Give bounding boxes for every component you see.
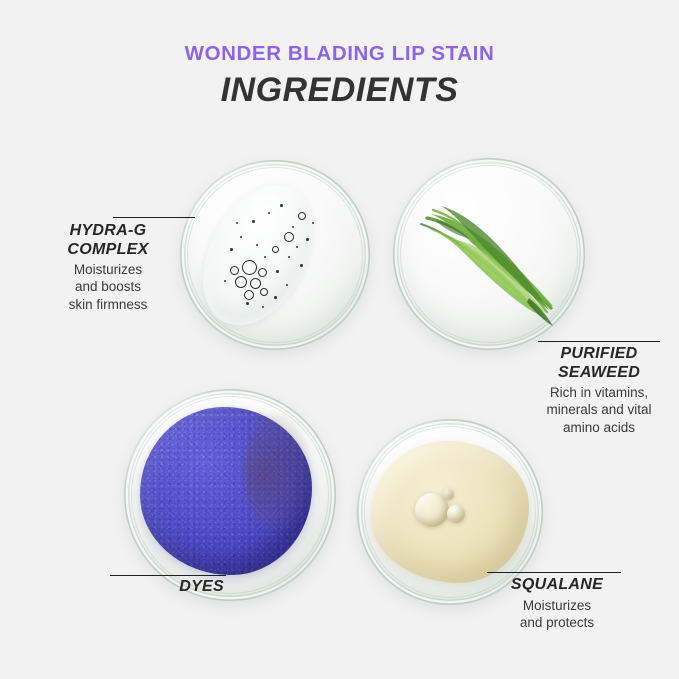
speck <box>306 238 309 241</box>
brand-title: WONDER BLADING LIP STAIN <box>0 42 679 66</box>
speck <box>300 264 303 267</box>
main-title: INGREDIENTS <box>0 71 679 109</box>
bubble-icon <box>258 268 267 277</box>
leader-line-hydra-g <box>113 217 195 218</box>
speck <box>292 226 294 228</box>
speck <box>236 222 238 224</box>
leader-line-dyes <box>110 575 226 576</box>
bubble-icon <box>250 278 261 289</box>
gel-blob <box>181 166 335 343</box>
callout-squalane: SQUALANE Moisturizes and protects <box>487 576 627 631</box>
callout-dyes: DYES <box>84 578 224 599</box>
bubble-icon <box>272 246 279 253</box>
speck <box>252 220 255 223</box>
speck <box>312 222 314 224</box>
callout-seaweed: PURIFIED SEAWEED Rich in vitamins, miner… <box>524 345 674 436</box>
callout-description: Moisturizes and protects <box>487 597 627 632</box>
speck <box>230 248 233 251</box>
speck <box>288 256 290 258</box>
leader-line-seaweed <box>538 341 660 342</box>
callout-title: SQUALANE <box>487 576 627 595</box>
callout-description: Rich in vitamins, minerals and vital ami… <box>524 384 674 436</box>
petri-dish-seaweed <box>393 158 585 350</box>
bubble-icon <box>260 288 268 296</box>
callout-description: Moisturizes and boosts skin firmness <box>34 261 182 313</box>
speck <box>280 204 283 207</box>
speck <box>296 246 298 248</box>
speck <box>262 306 264 308</box>
speck <box>264 256 266 258</box>
page-title: WONDER BLADING LIP STAIN INGREDIENTS <box>0 42 679 109</box>
callout-title: PURIFIED SEAWEED <box>524 345 674 382</box>
speck <box>274 296 277 299</box>
seaweed-illustration <box>411 180 571 330</box>
speck <box>240 236 242 238</box>
bubble-icon <box>242 260 257 275</box>
leader-line-squalane <box>487 572 621 573</box>
dish-content-seaweed <box>393 158 585 350</box>
dish-content-gel <box>180 160 370 350</box>
petri-dish-dyes <box>124 389 336 601</box>
bubble-icon <box>284 232 294 242</box>
bubble-icon <box>244 290 254 300</box>
speck <box>268 212 270 214</box>
speck <box>256 244 258 246</box>
speck <box>246 302 249 305</box>
bubble-icon <box>298 212 306 220</box>
callout-title: HYDRA-G COMPLEX <box>34 222 182 259</box>
callout-hydra-g: HYDRA-G COMPLEX Moisturizes and boosts s… <box>34 222 182 313</box>
oil-droplet <box>443 489 454 500</box>
bubble-icon <box>235 276 247 288</box>
infographic-canvas: WONDER BLADING LIP STAIN INGREDIENTS <box>0 0 679 679</box>
bubble-icon <box>230 266 239 275</box>
callout-title: DYES <box>84 578 224 597</box>
speck <box>276 270 279 273</box>
petri-dish-hydra-g <box>180 160 370 350</box>
speck <box>224 280 226 282</box>
dish-content-dye <box>124 389 336 601</box>
dish-inner-shadow <box>244 413 310 533</box>
oil-droplet <box>447 505 465 523</box>
speck <box>286 284 288 286</box>
